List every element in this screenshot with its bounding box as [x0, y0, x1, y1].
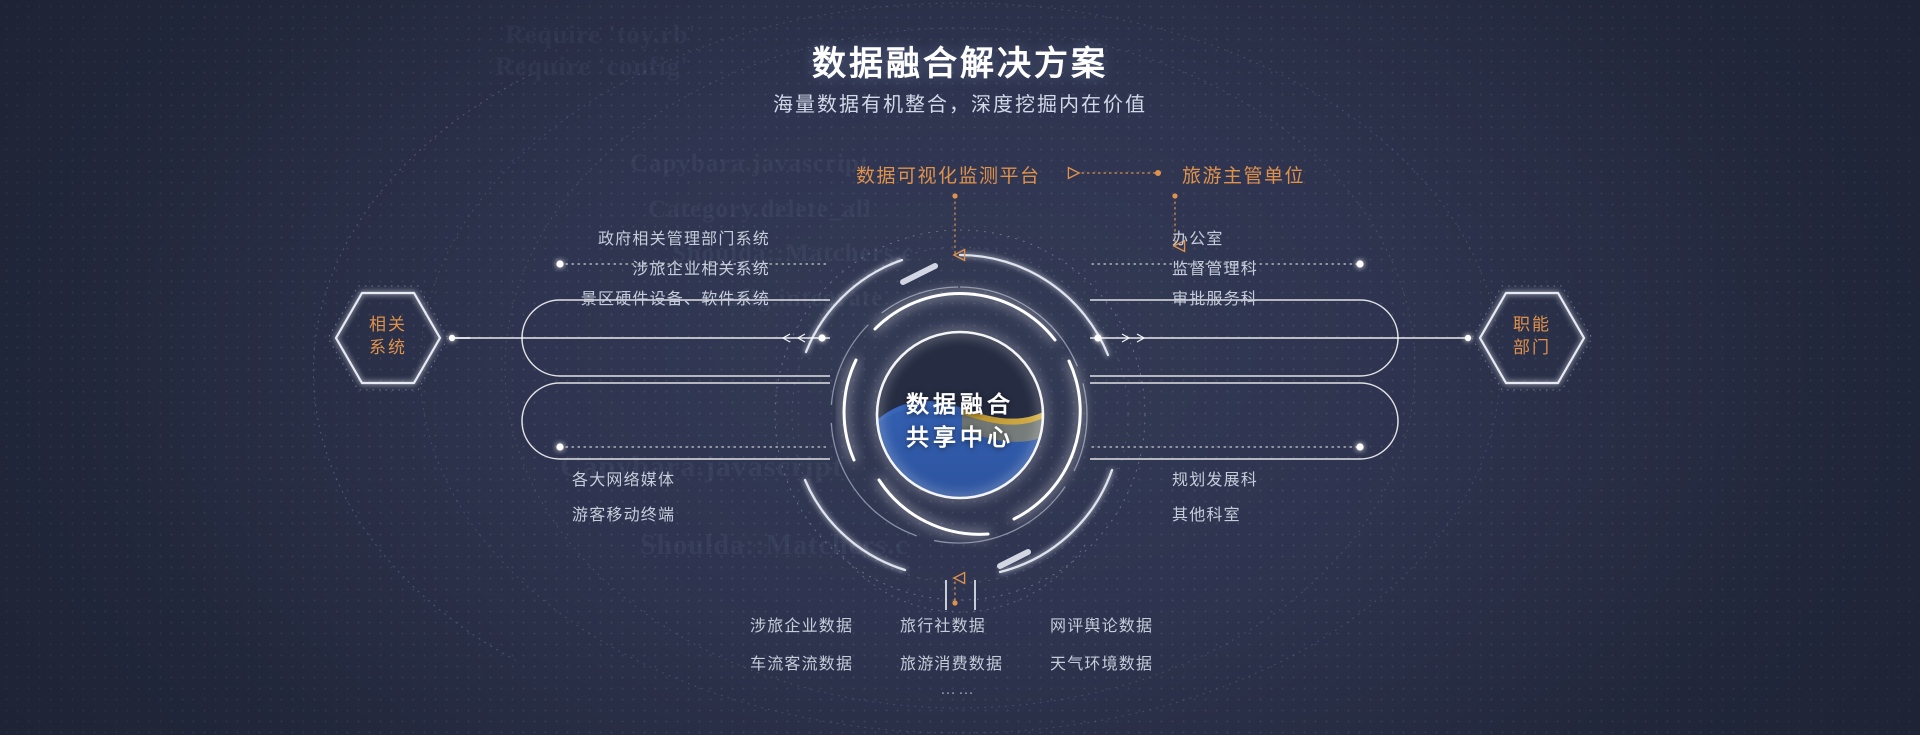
left-badge-line2: 系统 [369, 338, 407, 357]
page-title: 数据融合解决方案 [0, 36, 1920, 85]
department-item-0[interactable]: 办公室 [1172, 225, 1224, 249]
core-label-line1: 数据融合 [906, 391, 1014, 417]
source-item-4[interactable]: 游客移动终端 [572, 501, 675, 525]
data-item-3[interactable]: 车流客流数据 [750, 650, 853, 674]
infographic-stage: Require 'toy.rb' Require 'config' Capyba… [0, 0, 1920, 735]
source-item-3[interactable]: 各大网络媒体 [572, 466, 675, 490]
department-item-4[interactable]: 其他科室 [1172, 501, 1241, 525]
right-badge-line2: 部门 [1513, 338, 1551, 357]
right-badge-label: 职能 部门 [1481, 314, 1583, 360]
node-tourism-authority[interactable]: 旅游主管单位 [1182, 161, 1305, 188]
data-item-4[interactable]: 旅游消费数据 [900, 650, 1003, 674]
department-item-2[interactable]: 审批服务科 [1172, 285, 1258, 309]
data-more-indicator: …… [940, 681, 976, 699]
left-badge-label: 相关 系统 [337, 314, 439, 360]
core-label: 数据融合 共享中心 [860, 388, 1060, 453]
page-subtitle: 海量数据有机整合，深度挖掘内在价值 [0, 88, 1920, 117]
core-label-line2: 共享中心 [906, 424, 1014, 450]
data-item-0[interactable]: 涉旅企业数据 [750, 612, 853, 636]
source-item-2[interactable]: 景区硬件设备、软件系统 [581, 285, 770, 309]
data-item-5[interactable]: 天气环境数据 [1050, 650, 1153, 674]
department-item-3[interactable]: 规划发展科 [1172, 466, 1258, 490]
left-badge-line1: 相关 [369, 315, 407, 334]
source-item-1[interactable]: 涉旅企业相关系统 [632, 255, 770, 279]
department-item-1[interactable]: 监督管理科 [1172, 255, 1258, 279]
node-visualization-platform[interactable]: 数据可视化监测平台 [856, 161, 1041, 188]
data-item-2[interactable]: 网评舆论数据 [1050, 612, 1153, 636]
source-item-0[interactable]: 政府相关管理部门系统 [598, 225, 770, 249]
right-badge-line1: 职能 [1513, 315, 1551, 334]
data-item-1[interactable]: 旅行社数据 [900, 612, 986, 636]
